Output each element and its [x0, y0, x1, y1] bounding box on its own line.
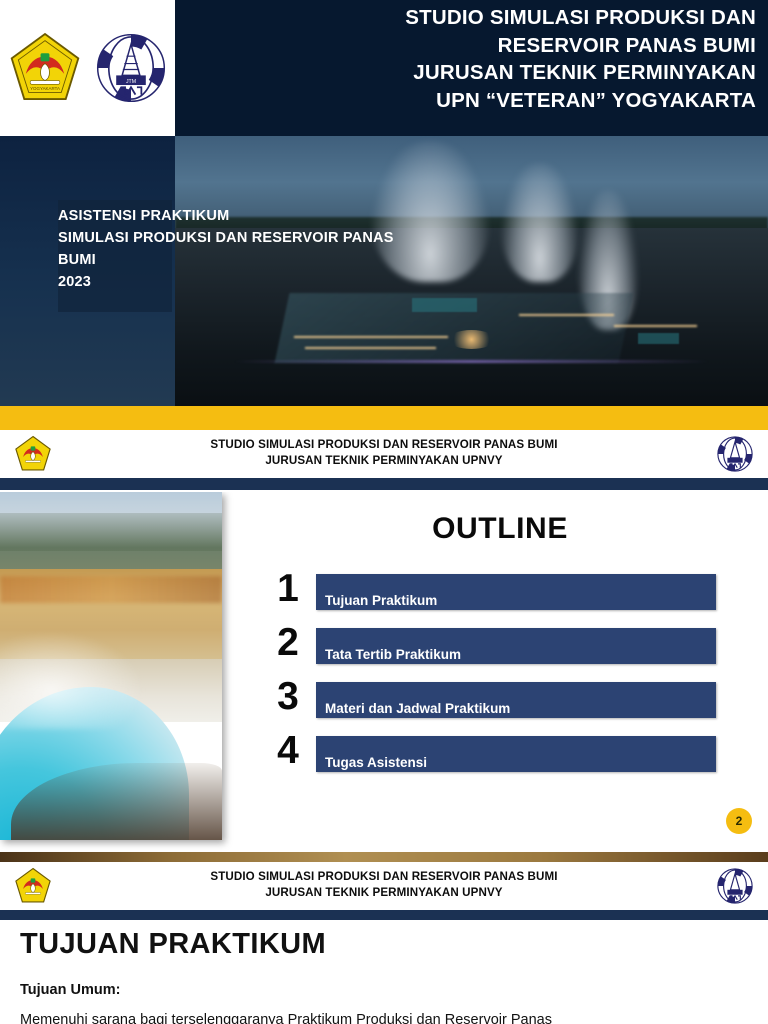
- plant-lights: [519, 314, 614, 316]
- teknik-perminyakan-logo: [716, 435, 754, 473]
- outline-item-label: Tugas Asistensi: [325, 755, 427, 770]
- accent-band-yellow: [0, 406, 768, 430]
- slide-title: YOGYAKARTA JTM STUDIO SIMULASI: [0, 0, 768, 406]
- outline-item[interactable]: 1 Tujuan Praktikum: [240, 570, 760, 624]
- outline-item[interactable]: 4 Tugas Asistensi: [240, 732, 760, 786]
- footer-text: STUDIO SIMULASI PRODUKSI DAN RESERVOIR P…: [90, 437, 678, 469]
- svg-text:YOGYAKARTA: YOGYAKARTA: [30, 86, 60, 91]
- plant-roof: [638, 333, 680, 344]
- title-line-4: UPN “VETERAN” YOGYAKARTA: [190, 87, 756, 115]
- slide-footer-1: STUDIO SIMULASI PRODUKSI DAN RESERVOIR P…: [0, 430, 768, 478]
- plant-lights: [294, 336, 448, 338]
- slide-outline: OUTLINE 1 Tujuan Praktikum 2 Tata Tertib…: [0, 492, 768, 852]
- footer-line-2: JURUSAN TEKNIK PERMINYAKAN UPNVY: [90, 453, 678, 469]
- teknik-perminyakan-logo: [716, 867, 754, 905]
- logo-box: YOGYAKARTA JTM: [0, 0, 175, 136]
- slide-footer-2: STUDIO SIMULASI PRODUKSI DAN RESERVOIR P…: [0, 862, 768, 910]
- photo-mineral-crust: [0, 576, 222, 604]
- footer-line-2: JURUSAN TEKNIK PERMINYAKAN UPNVY: [90, 885, 678, 901]
- outline-item-bar[interactable]: Materi dan Jadwal Praktikum: [316, 682, 716, 718]
- caption-line-2: SIMULASI PRODUKSI DAN RESERVOIR PANAS: [58, 227, 578, 249]
- section-title: TUJUAN PRAKTIKUM: [20, 928, 326, 961]
- svg-text:JTM: JTM: [125, 79, 135, 85]
- presentation-page: YOGYAKARTA JTM STUDIO SIMULASI: [0, 0, 768, 1024]
- outline-item-bar[interactable]: Tata Tertib Praktikum: [316, 628, 716, 664]
- upn-veteran-yogyakarta-logo: YOGYAKARTA: [8, 31, 82, 105]
- title-line-3: JURUSAN TEKNIK PERMINYAKAN: [190, 59, 756, 87]
- outline-item[interactable]: 2 Tata Tertib Praktikum: [240, 624, 760, 678]
- footer-line-1: STUDIO SIMULASI PRODUKSI DAN RESERVOIR P…: [90, 869, 678, 885]
- upn-veteran-yogyakarta-logo: [14, 435, 52, 473]
- slide-tujuan-praktikum: TUJUAN PRAKTIKUM Tujuan Umum: Memenuhi s…: [0, 920, 768, 1024]
- section-subtitle: Tujuan Umum:: [20, 982, 120, 998]
- page-number-badge: 2: [726, 808, 752, 834]
- plant-lights: [305, 347, 435, 349]
- caption-line-1: ASISTENSI PRAKTIKUM: [58, 205, 578, 227]
- title-line-2: RESERVOIR PANAS BUMI: [190, 32, 756, 60]
- teknik-perminyakan-logo: JTM: [94, 31, 168, 105]
- photo-forest: [0, 513, 222, 576]
- accent-band-brown: [0, 852, 768, 862]
- title-heading: STUDIO SIMULASI PRODUKSI DAN RESERVOIR P…: [190, 4, 756, 114]
- section-body-text: Memenuhi sarana bagi terselenggaranya Pr…: [20, 1008, 750, 1024]
- outline-item-number: 4: [268, 728, 308, 774]
- outline-list: 1 Tujuan Praktikum 2 Tata Tertib Praktik…: [240, 570, 760, 786]
- outline-item[interactable]: 3 Materi dan Jadwal Praktikum: [240, 678, 760, 732]
- outline-item-number: 1: [268, 566, 308, 612]
- outline-heading: OUTLINE: [240, 512, 760, 546]
- outline-item-label: Materi dan Jadwal Praktikum: [325, 701, 510, 716]
- photo-steam: [0, 631, 144, 728]
- plant-roof: [412, 298, 477, 312]
- outline-item-label: Tujuan Praktikum: [325, 593, 437, 608]
- caption-block: ASISTENSI PRAKTIKUM SIMULASI PRODUKSI DA…: [58, 205, 578, 293]
- plant-lights: [614, 325, 697, 327]
- outline-item-number: 2: [268, 620, 308, 666]
- footer-line-1: STUDIO SIMULASI PRODUKSI DAN RESERVOIR P…: [90, 437, 678, 453]
- caption-year: 2023: [58, 271, 578, 293]
- slide-divider-strip: [0, 478, 768, 490]
- hot-spring-photo: [0, 492, 222, 840]
- outline-item-bar[interactable]: Tugas Asistensi: [316, 736, 716, 772]
- outline-item-label: Tata Tertib Praktikum: [325, 647, 461, 662]
- upn-veteran-yogyakarta-logo: [14, 867, 52, 905]
- outline-item-number: 3: [268, 674, 308, 720]
- title-line-1: STUDIO SIMULASI PRODUKSI DAN: [190, 4, 756, 32]
- plant-road: [234, 360, 708, 363]
- footer-text: STUDIO SIMULASI PRODUKSI DAN RESERVOIR P…: [90, 869, 678, 901]
- caption-line-3: BUMI: [58, 249, 578, 271]
- outline-item-bar[interactable]: Tujuan Praktikum: [316, 574, 716, 610]
